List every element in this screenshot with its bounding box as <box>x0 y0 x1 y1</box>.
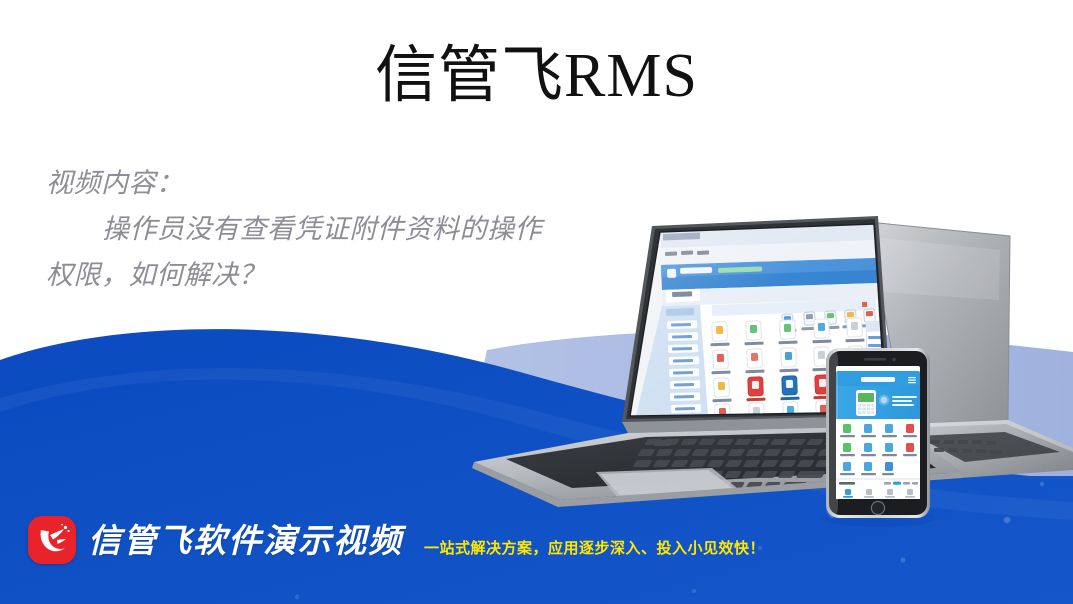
brand-tagline: 一站式解决方案，应用逐步深入、投入小见效快！ <box>424 537 765 558</box>
slide-title-cn: 信管飞 <box>375 42 564 110</box>
slide-title: 信管飞RMS <box>0 44 1073 109</box>
brand-name: 信管飞软件演示视频 <box>88 524 403 557</box>
slide-title-latin: RMS <box>564 42 698 110</box>
brand-lockup: 信管飞软件演示视频 <box>28 516 403 564</box>
video-content-question-line2: 权限，如何解决？ <box>46 252 626 298</box>
footer-banner: 信管飞软件演示视频 一站式解决方案，应用逐步深入、投入小见效快！ <box>0 484 1073 604</box>
video-content-block: 视频内容： 操作员没有查看凭证附件资料的操作 权限，如何解决？ <box>46 160 626 298</box>
feiyi-bird-logo-icon <box>28 516 76 564</box>
video-content-label: 视频内容： <box>46 160 626 206</box>
slide-canvas: 信管飞RMS 视频内容： 操作员没有查看凭证附件资料的操作 权限，如何解决？ <box>0 0 1073 604</box>
video-content-question-line1: 操作员没有查看凭证附件资料的操作 <box>46 206 626 252</box>
